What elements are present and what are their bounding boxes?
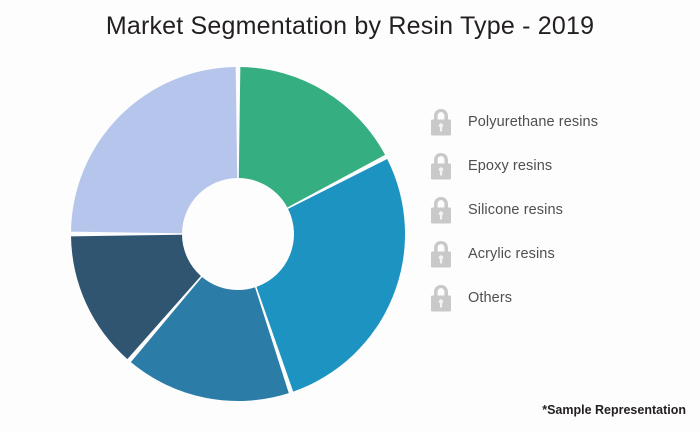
legend-item-label: Polyurethane resins: [468, 114, 598, 130]
chart-page: Market Segmentation by Resin Type - 2019…: [0, 0, 700, 431]
donut-chart-svg: [68, 64, 408, 404]
sample-representation-note: *Sample Representation: [542, 403, 686, 417]
donut-slice[interactable]: [71, 67, 237, 233]
chart-legend: Polyurethane resins Epoxy resins: [428, 100, 678, 320]
legend-item-acrylic-resins[interactable]: Acrylic resins: [428, 232, 678, 276]
legend-item-label: Acrylic resins: [468, 246, 555, 262]
legend-item-polyurethane-resins[interactable]: Polyurethane resins: [428, 100, 678, 144]
legend-item-label: Silicone resins: [468, 202, 563, 218]
donut-slice-group: [71, 67, 405, 401]
donut-chart: [68, 64, 408, 404]
legend-item-label: Epoxy resins: [468, 158, 552, 174]
lock-icon: [428, 283, 454, 313]
page-title: Market Segmentation by Resin Type - 2019: [0, 12, 700, 41]
legend-item-label: Others: [468, 290, 512, 306]
legend-item-others[interactable]: Others: [428, 276, 678, 320]
lock-icon: [428, 239, 454, 269]
legend-item-silicone-resins[interactable]: Silicone resins: [428, 188, 678, 232]
lock-icon: [428, 195, 454, 225]
lock-icon: [428, 107, 454, 137]
legend-item-epoxy-resins[interactable]: Epoxy resins: [428, 144, 678, 188]
lock-icon: [428, 151, 454, 181]
